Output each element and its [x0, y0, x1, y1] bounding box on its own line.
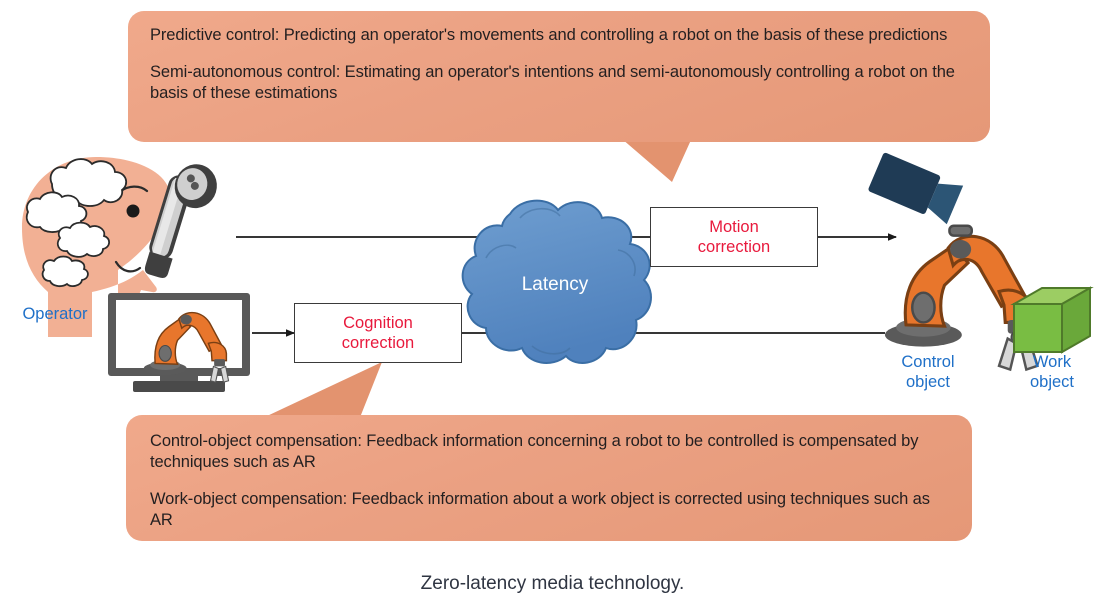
- lower-callout-paragraph-1: Control-object compensation: Feedback in…: [150, 431, 948, 473]
- operator-monitor: [108, 293, 250, 392]
- motion-correction-line-2: correction: [698, 238, 770, 256]
- upper-callout: Predictive control: Predicting an operat…: [128, 11, 990, 142]
- lower-callout-paragraph-2: Work-object compensation: Feedback infor…: [150, 489, 948, 531]
- work-object-label-line-1: Work: [1033, 353, 1071, 371]
- cognition-correction-label: Cognition correction: [342, 313, 414, 353]
- work-object-label: Work object: [1006, 352, 1098, 392]
- motion-correction-box[interactable]: Motion correction: [650, 207, 818, 267]
- upper-callout-text: Predictive control: Predicting an operat…: [150, 25, 970, 104]
- lower-callout-text: Control-object compensation: Feedback in…: [150, 431, 948, 531]
- work-object-cube: [1014, 288, 1090, 352]
- cognition-correction-line-1: Cognition: [343, 314, 413, 332]
- control-object-label-line-2: object: [906, 373, 950, 391]
- camera-icon: [868, 152, 964, 224]
- diagram-canvas: Predictive control: Predicting an operat…: [0, 0, 1105, 615]
- latency-label: Latency: [475, 274, 635, 296]
- motion-correction-label: Motion correction: [698, 217, 770, 257]
- work-object-label-line-2: object: [1030, 373, 1074, 391]
- control-object-label-line-1: Control: [901, 353, 954, 371]
- operator-label: Operator: [0, 304, 110, 324]
- figure-caption: Zero-latency media technology.: [0, 573, 1105, 595]
- upper-callout-paragraph-1: Predictive control: Predicting an operat…: [150, 25, 970, 46]
- motion-correction-line-1: Motion: [709, 218, 759, 236]
- control-object-label: Control object: [880, 352, 976, 392]
- cognition-correction-box[interactable]: Cognition correction: [294, 303, 462, 363]
- cognition-correction-line-2: correction: [342, 334, 414, 352]
- upper-callout-paragraph-2: Semi-autonomous control: Estimating an o…: [150, 62, 970, 104]
- lower-callout: Control-object compensation: Feedback in…: [126, 415, 972, 541]
